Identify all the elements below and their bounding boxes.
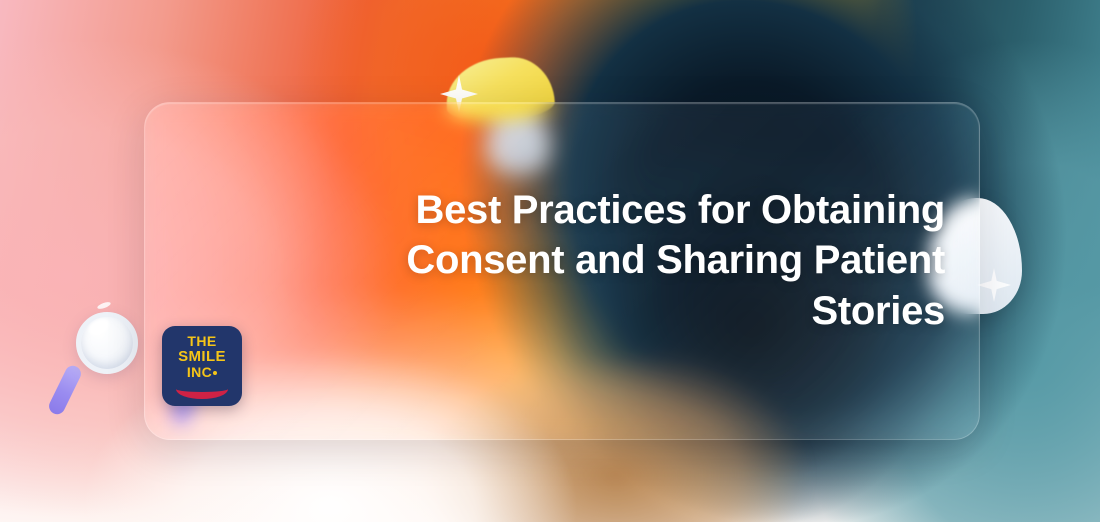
brand-logo[interactable]: THE SMILE INC [162,326,242,406]
hero-glass-card: Best Practices for Obtaining Consent and… [144,102,980,440]
page-title-line-2: Consent and Sharing Patient [263,235,945,285]
brand-logo-line-2: SMILE [178,349,226,364]
page-title-line-3: Stories [263,286,945,336]
brand-logo-dot [213,371,217,375]
brand-logo-line-3: INC [187,365,217,379]
page-title: Best Practices for Obtaining Consent and… [263,185,945,336]
hero-banner: Best Practices for Obtaining Consent and… [0,0,1100,522]
brand-logo-line-1: THE [187,334,216,348]
page-title-line-1: Best Practices for Obtaining [263,185,945,235]
brand-logo-smile-curve-icon [176,382,228,399]
